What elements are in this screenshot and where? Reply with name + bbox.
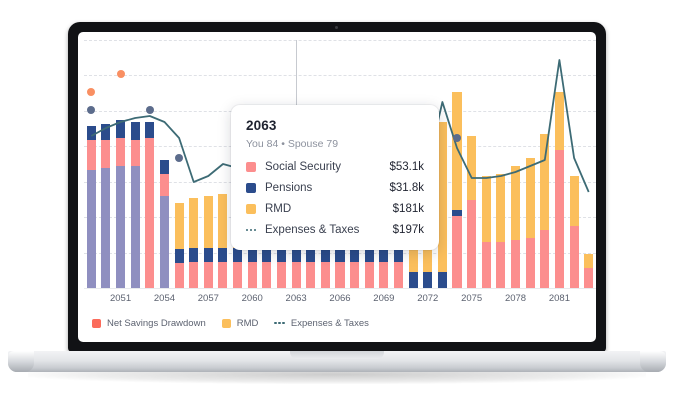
dotted-line-icon — [246, 229, 256, 232]
laptop-screen: 2051205420572060206320662069207220752078… — [78, 32, 596, 342]
legend-label: Expenses & Taxes — [291, 318, 369, 329]
x-axis-tick-label: 2072 — [417, 293, 438, 304]
legend-label: RMD — [237, 318, 259, 329]
x-axis-tick-label: 2054 — [154, 293, 175, 304]
scatter-marker — [453, 134, 461, 142]
x-axis-tick-label: 2051 — [110, 293, 131, 304]
tooltip-row-label: Expenses & Taxes — [265, 224, 359, 236]
x-axis-tick-label: 2063 — [286, 293, 307, 304]
x-axis-tick-label: 2075 — [461, 293, 482, 304]
x-axis-tick-label: 2078 — [505, 293, 526, 304]
laptop-base-left-cap — [8, 351, 34, 372]
tooltip-subtitle: You 84 • Spouse 79 — [246, 138, 424, 150]
screenshot-root: 2051205420572060206320662069207220752078… — [0, 0, 674, 410]
x-axis-tick-label: 2060 — [242, 293, 263, 304]
tooltip-row-label: RMD — [265, 203, 291, 215]
tooltip-row-value: $181k — [393, 203, 424, 215]
x-axis-tick-label: 2066 — [329, 293, 350, 304]
tooltip-row: Pensions$31.8k — [246, 182, 424, 194]
chart-legend[interactable]: Net Savings DrawdownRMDExpenses & Taxes — [84, 314, 596, 332]
tooltip-row-value: $197k — [393, 224, 424, 236]
scatter-marker — [117, 70, 125, 78]
scatter-marker — [146, 106, 154, 114]
x-axis: 2051205420572060206320662069207220752078… — [84, 288, 596, 308]
retirement-cashflow-chart[interactable]: 2051205420572060206320662069207220752078… — [78, 32, 596, 342]
tooltip-swatch-icon — [246, 204, 256, 214]
legend-item[interactable]: RMD — [222, 318, 259, 329]
tooltip-swatch-icon — [246, 162, 256, 172]
tooltip-row-value: $53.1k — [389, 161, 424, 173]
tooltip-row-label: Social Security — [265, 161, 341, 173]
tooltip-rows: Social Security$53.1kPensions$31.8kRMD$1… — [246, 161, 424, 236]
legend-item[interactable]: Expenses & Taxes — [274, 318, 368, 329]
tooltip-row-value: $31.8k — [389, 182, 424, 194]
tooltip-row: Expenses & Taxes$197k — [246, 224, 424, 236]
laptop-base-right-cap — [640, 351, 666, 372]
legend-item[interactable]: Net Savings Drawdown — [92, 318, 206, 329]
tooltip-title: 2063 — [246, 118, 424, 133]
legend-swatch-icon — [222, 319, 231, 328]
chart-tooltip: 2063 You 84 • Spouse 79 Social Security$… — [231, 105, 439, 250]
x-axis-tick-label: 2057 — [198, 293, 219, 304]
laptop-camera — [335, 26, 338, 29]
tooltip-row: RMD$181k — [246, 203, 424, 215]
x-axis-tick-label: 2081 — [549, 293, 570, 304]
legend-label: Net Savings Drawdown — [107, 318, 206, 329]
x-axis-tick-label: 2069 — [373, 293, 394, 304]
tooltip-row-label: Pensions — [265, 182, 312, 194]
legend-swatch-icon — [92, 319, 101, 328]
tooltip-row: Social Security$53.1k — [246, 161, 424, 173]
tooltip-swatch-icon — [246, 183, 256, 193]
dotted-line-icon — [274, 322, 285, 325]
laptop-base-notch — [290, 351, 384, 359]
